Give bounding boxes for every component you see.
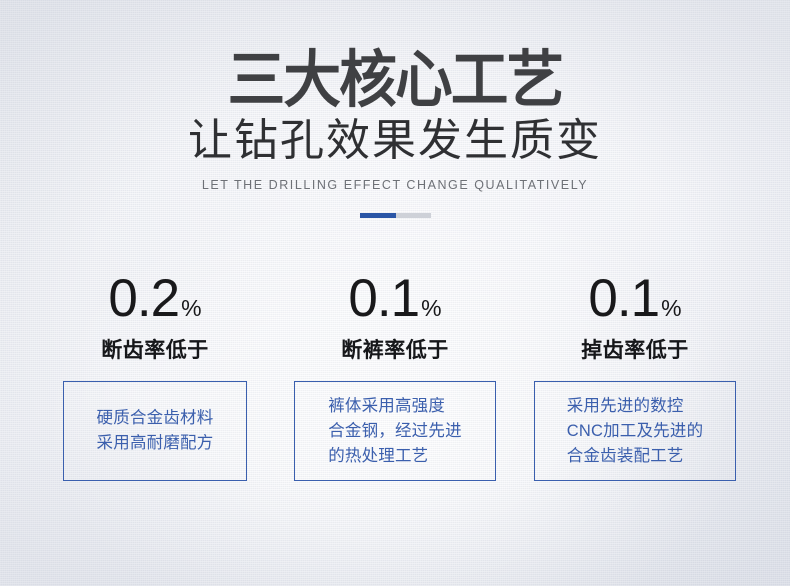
headline-subtitle-english: LET THE DRILLING EFFECT CHANGE QUALITATI… xyxy=(0,177,790,193)
stat-box-text-3: 采用先进的数控 CNC加工及先进的 合金齿装配工艺 xyxy=(567,394,704,469)
stat-number-3: 0.1 % xyxy=(588,272,681,324)
poster-header: 三大核心工艺 让钻孔效果发生质变 LET THE DRILLING EFFECT… xyxy=(0,48,790,218)
headline-secondary: 让钻孔效果发生质变 xyxy=(0,116,790,166)
stat-number-1: 0.2 % xyxy=(108,272,201,324)
stat-box-text-2: 裤体采用高强度 合金钢，经过先进 的热处理工艺 xyxy=(328,394,462,469)
stats-row: 0.2 % 断齿率低于 硬质合金齿材料 采用高耐磨配方 0.1 % 断裤率低于 … xyxy=(45,272,745,481)
stat-box-1: 硬质合金齿材料 采用高耐磨配方 xyxy=(63,381,247,481)
stat-value-2: 0.1 xyxy=(348,272,419,325)
stat-box-text-1: 硬质合金齿材料 采用高耐磨配方 xyxy=(97,406,214,456)
stat-label-3: 掉齿率低于 xyxy=(581,334,689,364)
headline-primary: 三大核心工艺 xyxy=(28,48,763,112)
stat-unit-3: % xyxy=(661,297,681,320)
divider-segment-gray xyxy=(396,213,431,218)
stat-label-2: 断裤率低于 xyxy=(341,334,449,364)
divider xyxy=(360,213,431,218)
stat-column-1: 0.2 % 断齿率低于 硬质合金齿材料 采用高耐磨配方 xyxy=(45,272,265,481)
divider-segment-blue xyxy=(360,213,396,218)
stat-column-3: 0.1 % 掉齿率低于 采用先进的数控 CNC加工及先进的 合金齿装配工艺 xyxy=(525,272,745,481)
stat-number-2: 0.1 % xyxy=(348,272,441,324)
stat-value-1: 0.2 xyxy=(108,272,179,325)
promo-poster: 三大核心工艺 让钻孔效果发生质变 LET THE DRILLING EFFECT… xyxy=(0,0,790,586)
stat-unit-1: % xyxy=(181,297,201,320)
stat-unit-2: % xyxy=(421,297,441,320)
stat-box-2: 裤体采用高强度 合金钢，经过先进 的热处理工艺 xyxy=(294,381,496,481)
stat-label-1: 断齿率低于 xyxy=(101,334,209,364)
stat-column-2: 0.1 % 断裤率低于 裤体采用高强度 合金钢，经过先进 的热处理工艺 xyxy=(285,272,505,481)
stat-value-3: 0.1 xyxy=(588,272,659,325)
stat-box-3: 采用先进的数控 CNC加工及先进的 合金齿装配工艺 xyxy=(534,381,736,481)
